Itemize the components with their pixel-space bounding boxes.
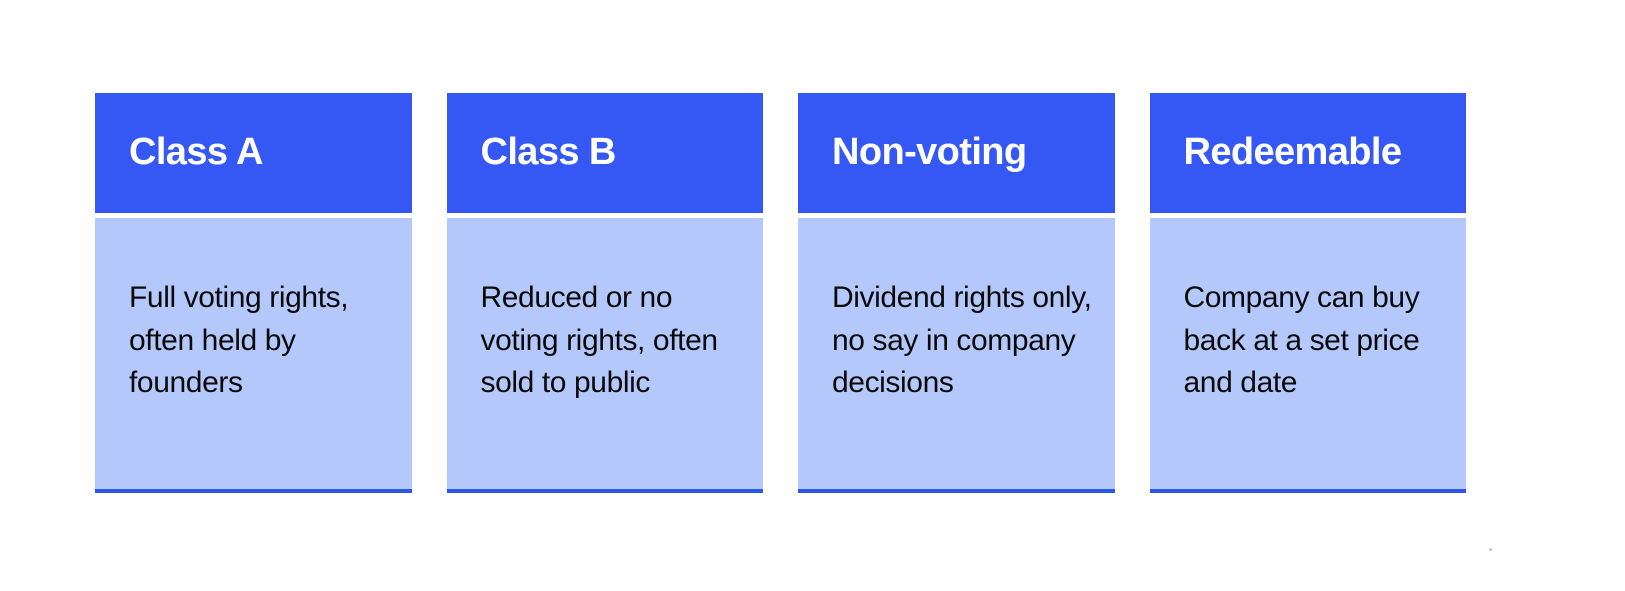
card-redeemable[interactable]: Redeemable Company can buy back at a set… (1150, 93, 1467, 493)
card-header-non-voting: Non-voting (798, 93, 1115, 213)
card-description: Reduced or no voting rights, often sold … (481, 277, 742, 405)
card-body-non-voting: Dividend rights only, no say in company … (798, 218, 1115, 493)
card-description: Full voting rights, often held by founde… (129, 277, 390, 405)
card-header-redeemable: Redeemable (1150, 93, 1467, 213)
corner-artifact-dot (1489, 548, 1492, 551)
card-title: Non-voting (832, 133, 1027, 173)
card-body-class-a: Full voting rights, often held by founde… (95, 218, 412, 493)
card-body-redeemable: Company can buy back at a set price and … (1150, 218, 1467, 493)
card-non-voting[interactable]: Non-voting Dividend rights only, no say … (798, 93, 1115, 493)
card-title: Class B (481, 133, 616, 173)
card-body-class-b: Reduced or no voting rights, often sold … (447, 218, 764, 493)
card-description: Company can buy back at a set price and … (1184, 277, 1445, 405)
card-title: Redeemable (1184, 133, 1402, 173)
card-class-a[interactable]: Class A Full voting rights, often held b… (95, 93, 412, 493)
card-description: Dividend rights only, no say in company … (832, 277, 1093, 405)
card-title: Class A (129, 133, 263, 173)
card-grid: Class A Full voting rights, often held b… (95, 93, 1466, 493)
card-class-b[interactable]: Class B Reduced or no voting rights, oft… (447, 93, 764, 493)
card-header-class-a: Class A (95, 93, 412, 213)
card-header-class-b: Class B (447, 93, 764, 213)
